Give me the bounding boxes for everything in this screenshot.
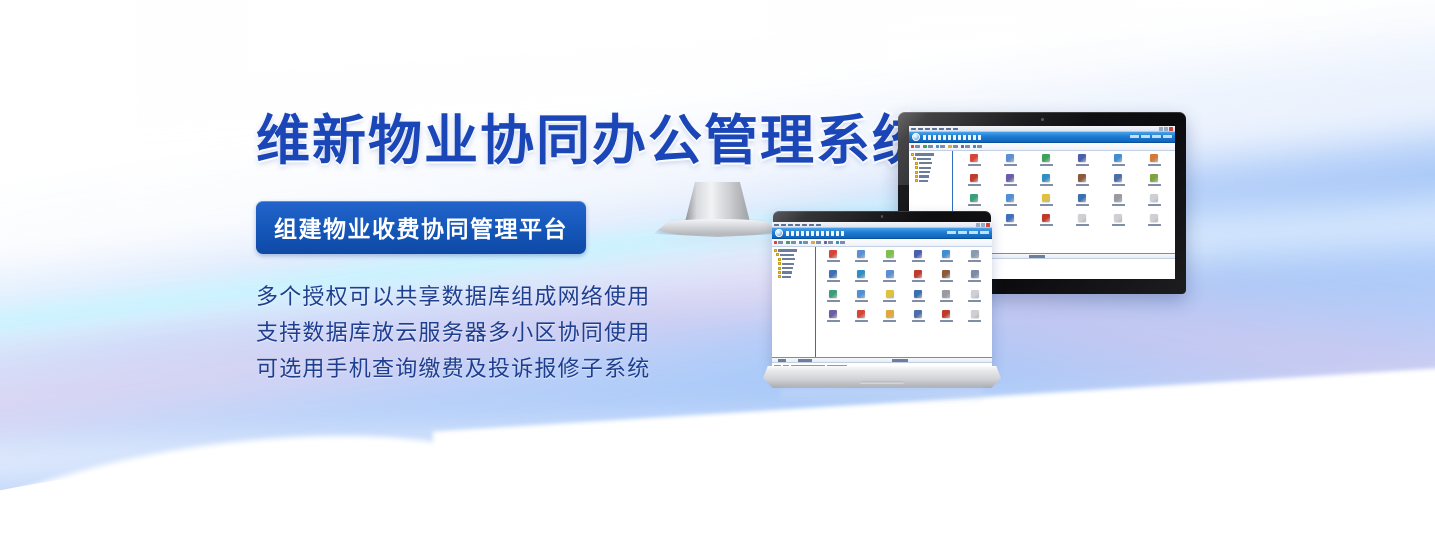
laptop-screen (772, 222, 992, 383)
module-label (1040, 204, 1053, 206)
folder-icon (911, 153, 915, 156)
module-label (1148, 224, 1161, 226)
module-label (883, 320, 896, 322)
tree-node[interactable] (774, 258, 814, 261)
app-module-icon-button[interactable] (1065, 154, 1099, 173)
module-label (968, 280, 981, 282)
app-module-icon-button[interactable] (1029, 214, 1063, 233)
tree-node-label (782, 258, 794, 260)
app-module-icon-button[interactable] (848, 310, 874, 329)
folder-icon (778, 275, 782, 278)
toolbar-button[interactable] (824, 241, 833, 244)
module-icon (886, 310, 894, 318)
app-module-icon-button[interactable] (957, 154, 991, 173)
monitor-stand-reflection (662, 236, 774, 248)
app-toolbar[interactable] (909, 143, 1175, 151)
module-icon (1078, 174, 1086, 182)
tree-node[interactable] (911, 179, 951, 182)
toolbar-icon (973, 145, 976, 148)
app-module-icon-button[interactable] (933, 270, 959, 289)
toolbar-icon (961, 145, 964, 148)
module-icon (1042, 154, 1050, 162)
app-module-icon-button[interactable] (1137, 154, 1171, 173)
app-module-icon-button[interactable] (993, 174, 1027, 193)
module-label (968, 300, 981, 302)
module-label (968, 260, 981, 262)
laptop-webcam-icon (881, 215, 884, 218)
app-module-icon-button[interactable] (877, 250, 903, 269)
toolbar-label (953, 145, 958, 147)
module-icon (1114, 214, 1122, 222)
folder-icon (778, 258, 782, 261)
app-module-icon-button[interactable] (933, 250, 959, 269)
tree-node-label (917, 158, 931, 160)
module-label (1112, 164, 1125, 166)
module-label (940, 320, 953, 322)
tree-node-label (919, 180, 928, 182)
app-module-icon-button[interactable] (1065, 174, 1099, 193)
app-module-icon-button[interactable] (820, 270, 846, 289)
module-icon (1078, 214, 1086, 222)
module-label (968, 320, 981, 322)
folder-icon (915, 171, 919, 174)
tree-node-label (919, 167, 931, 169)
app-module-icon-button[interactable] (1101, 214, 1135, 233)
window-controls[interactable] (1159, 127, 1173, 130)
tree-node-label (782, 263, 794, 265)
tree-node-label (778, 249, 797, 251)
module-icon (886, 290, 894, 298)
app-module-icon-button[interactable] (1065, 194, 1099, 213)
module-icon (829, 250, 837, 258)
module-icon (1114, 174, 1122, 182)
app-menu-items[interactable] (774, 224, 821, 226)
app-tree-panel[interactable] (772, 247, 816, 357)
module-label (855, 260, 868, 262)
banner-title: 维新物业协同办公管理系统 (256, 112, 916, 169)
window-controls[interactable] (976, 223, 990, 226)
module-label (968, 184, 981, 186)
app-module-icon-button[interactable] (1029, 194, 1063, 213)
toolbar-button[interactable] (774, 241, 783, 244)
folder-icon (915, 162, 919, 165)
module-label (1004, 224, 1017, 226)
module-icon (1150, 154, 1158, 162)
toolbar-button[interactable] (811, 241, 820, 244)
toolbar-icon (786, 241, 789, 244)
module-label (1040, 164, 1053, 166)
toolbar-button[interactable] (799, 241, 808, 244)
module-icon (942, 250, 950, 258)
module-icon (970, 154, 978, 162)
toolbar-label (940, 145, 945, 147)
app-module-icon-button[interactable] (1029, 174, 1063, 193)
toolbar-button[interactable] (836, 241, 845, 244)
toolbar-label (816, 241, 821, 243)
toolbar-label (803, 241, 808, 243)
app-module-icon-button[interactable] (1065, 214, 1099, 233)
module-label (855, 280, 868, 282)
module-icon (914, 270, 922, 278)
module-label (883, 300, 896, 302)
module-label (968, 164, 981, 166)
app-module-icon-button[interactable] (820, 310, 846, 329)
toolbar-button[interactable] (786, 241, 795, 244)
module-label (912, 280, 925, 282)
app-logo-icon (775, 229, 783, 237)
module-icon (942, 290, 950, 298)
tree-node-label (919, 171, 930, 173)
module-label (1004, 164, 1017, 166)
app-module-icon-button[interactable] (962, 270, 988, 289)
app-header-title (786, 231, 844, 236)
module-label (1040, 224, 1053, 226)
folder-icon (776, 253, 780, 256)
module-label (1112, 204, 1125, 206)
app-header-actions[interactable] (947, 231, 989, 234)
module-label (827, 320, 840, 322)
app-toolbar[interactable] (772, 239, 992, 247)
module-label (1076, 164, 1089, 166)
module-icon (971, 250, 979, 258)
promo-banner: 维新物业协同办公管理系统 组建物业收费协同管理平台 多个授权可以共享数据库组成网… (0, 0, 1435, 538)
module-icon (1078, 154, 1086, 162)
app-module-icon-button[interactable] (933, 290, 959, 309)
module-label (912, 320, 925, 322)
laptop-base (763, 366, 1001, 388)
app-module-icon-button[interactable] (877, 270, 903, 289)
app-header-bar (772, 228, 992, 239)
module-icon (1150, 194, 1158, 202)
app-module-icon-button[interactable] (1137, 174, 1171, 193)
module-label (1076, 204, 1089, 206)
module-icon (1114, 194, 1122, 202)
module-icon (914, 250, 922, 258)
module-label (940, 260, 953, 262)
module-icon (971, 270, 979, 278)
module-label (940, 280, 953, 282)
app-module-icon-button[interactable] (820, 290, 846, 309)
toolbar-label (791, 241, 796, 243)
module-icon (971, 290, 979, 298)
tree-node[interactable] (911, 166, 951, 169)
module-label (1148, 204, 1161, 206)
app-module-icon-button[interactable] (848, 290, 874, 309)
module-icon (886, 250, 894, 258)
module-label (827, 300, 840, 302)
toolbar-label (915, 145, 920, 147)
module-icon (1042, 214, 1050, 222)
app-module-icon-button[interactable] (1101, 154, 1135, 173)
module-label (968, 204, 981, 206)
toolbar-button[interactable] (973, 145, 982, 148)
module-icon (942, 310, 950, 318)
toolbar-icon (911, 145, 914, 148)
toolbar-icon (948, 145, 951, 148)
module-icon (857, 250, 865, 258)
app-module-icon-button[interactable] (820, 250, 846, 269)
module-icon (886, 270, 894, 278)
app-module-icon-button[interactable] (905, 310, 931, 329)
monitor-stand-neck (685, 182, 751, 224)
toolbar-icon (811, 241, 814, 244)
app-body (772, 247, 992, 357)
module-label (855, 320, 868, 322)
toolbar-label (928, 145, 933, 147)
module-label (883, 260, 896, 262)
app-header-actions[interactable] (1130, 135, 1172, 138)
app-menu-items[interactable] (911, 128, 958, 130)
app-module-icon-button[interactable] (1029, 154, 1063, 173)
module-icon (1114, 154, 1122, 162)
laptop-device (763, 211, 1001, 393)
toolbar-icon (799, 241, 802, 244)
module-icon (1150, 174, 1158, 182)
toolbar-button[interactable] (936, 145, 945, 148)
module-label (1112, 184, 1125, 186)
app-module-icon-button[interactable] (962, 310, 988, 329)
tree-node-label (782, 276, 791, 278)
folder-icon (778, 271, 782, 274)
module-icon (970, 194, 978, 202)
folder-icon (778, 267, 782, 270)
app-header-title (923, 135, 981, 140)
module-label (827, 260, 840, 262)
tree-node[interactable] (774, 262, 814, 265)
module-icon (1006, 214, 1014, 222)
module-icon (1150, 214, 1158, 222)
module-label (1076, 224, 1089, 226)
tree-node[interactable] (911, 175, 951, 178)
toolbar-icon (774, 241, 777, 244)
module-icon (857, 290, 865, 298)
app-module-icon-button[interactable] (905, 290, 931, 309)
app-module-icon-button[interactable] (933, 310, 959, 329)
folder-icon (774, 249, 778, 252)
tree-node-label (780, 254, 794, 256)
tree-node-label (782, 267, 793, 269)
app-header-bar (909, 132, 1175, 143)
module-label (912, 260, 925, 262)
folder-icon (913, 157, 917, 160)
laptop-reflection (781, 389, 983, 403)
module-label (855, 300, 868, 302)
module-icon (1078, 194, 1086, 202)
app-window-laptop (772, 222, 992, 383)
module-label (1040, 184, 1053, 186)
folder-icon (915, 166, 919, 169)
app-module-icon-button[interactable] (962, 250, 988, 269)
module-icon (1006, 174, 1014, 182)
app-module-icon-button[interactable] (848, 250, 874, 269)
toolbar-icon (836, 241, 839, 244)
tree-node[interactable] (774, 267, 814, 270)
app-module-icon-button[interactable] (905, 270, 931, 289)
tree-node[interactable] (774, 253, 814, 256)
app-module-icon-button[interactable] (1137, 194, 1171, 213)
module-icon (1006, 154, 1014, 162)
app-module-icon-button[interactable] (957, 174, 991, 193)
module-icon (971, 310, 979, 318)
module-icon (829, 270, 837, 278)
module-icon (829, 310, 837, 318)
toolbar-icon (936, 145, 939, 148)
toolbar-label (840, 241, 845, 243)
folder-icon (915, 175, 919, 178)
toolbar-icon (923, 145, 926, 148)
tree-node-label (919, 175, 929, 177)
toolbar-label (977, 145, 982, 147)
toolbar-label (828, 241, 833, 243)
tree-node-label (915, 153, 934, 155)
app-module-icon-button[interactable] (1101, 174, 1135, 193)
module-icon (970, 174, 978, 182)
app-module-icon-button[interactable] (905, 250, 931, 269)
toolbar-button[interactable] (923, 145, 932, 148)
webcam-icon (1041, 118, 1044, 121)
toolbar-button[interactable] (948, 145, 957, 148)
tree-node-label (782, 271, 792, 273)
module-label (940, 300, 953, 302)
module-label (1112, 224, 1125, 226)
app-module-icon-button[interactable] (993, 154, 1027, 173)
tree-node[interactable] (774, 249, 814, 252)
app-module-icon-button[interactable] (848, 270, 874, 289)
tree-node[interactable] (911, 162, 951, 165)
folder-icon (778, 262, 782, 265)
toolbar-label (965, 145, 970, 147)
tree-node[interactable] (774, 271, 814, 274)
app-logo-icon (912, 133, 920, 141)
module-icon (857, 310, 865, 318)
module-icon (1006, 194, 1014, 202)
module-label (827, 280, 840, 282)
module-label (912, 300, 925, 302)
module-label (1004, 204, 1017, 206)
tree-node[interactable] (911, 153, 951, 156)
module-label (1004, 184, 1017, 186)
module-icon (942, 270, 950, 278)
banner-subtitle-badge: 组建物业收费协同管理平台 (256, 201, 586, 254)
folder-icon (915, 179, 919, 182)
module-icon (914, 310, 922, 318)
toolbar-label (778, 241, 783, 243)
app-module-icon-button[interactable] (1137, 214, 1171, 233)
module-label (1148, 164, 1161, 166)
module-icon (857, 270, 865, 278)
app-module-icon-button[interactable] (1101, 194, 1135, 213)
module-label (883, 280, 896, 282)
toolbar-button[interactable] (911, 145, 920, 148)
app-module-icon-button[interactable] (877, 310, 903, 329)
app-module-icon-button[interactable] (877, 290, 903, 309)
module-label (1076, 184, 1089, 186)
tree-node[interactable] (911, 171, 951, 174)
app-icon-grid[interactable] (816, 247, 992, 357)
module-icon (1042, 174, 1050, 182)
toolbar-icon (824, 241, 827, 244)
tree-node-label (919, 162, 931, 164)
module-icon (1042, 194, 1050, 202)
module-icon (829, 290, 837, 298)
app-module-icon-button[interactable] (962, 290, 988, 309)
toolbar-button[interactable] (961, 145, 970, 148)
tree-node[interactable] (911, 157, 951, 160)
laptop-trackpad (860, 381, 904, 384)
tree-node[interactable] (774, 275, 814, 278)
module-icon (914, 290, 922, 298)
module-label (1148, 184, 1161, 186)
footer-column-headers (772, 358, 992, 363)
